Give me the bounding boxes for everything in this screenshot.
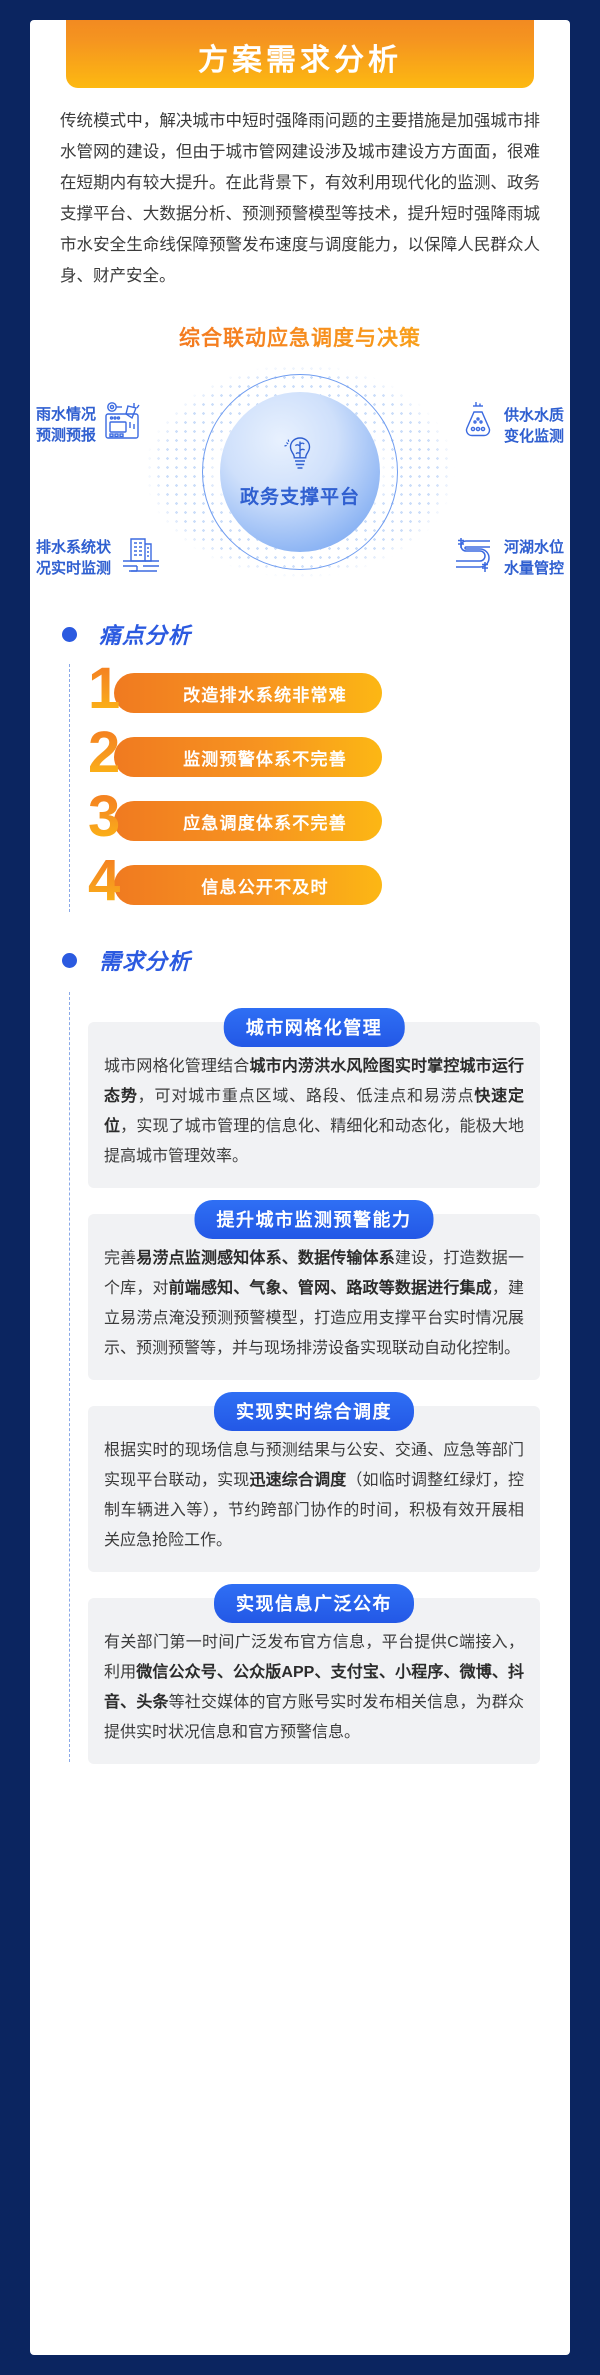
dashed-rail-decoration xyxy=(69,992,70,1762)
demand-card[interactable]: 提升城市监测预警能力 完善易涝点监测感知体系、数据传输体系建设，打造数据一个库，… xyxy=(88,1214,540,1380)
pain-point-number: 3 xyxy=(88,788,120,846)
pain-point-number: 2 xyxy=(88,724,120,782)
bullet-dot-icon xyxy=(62,627,77,642)
demand-card[interactable]: 实现实时综合调度 根据实时的现场信息与预测结果与公安、交通、应急等部门实现平台联… xyxy=(88,1406,540,1572)
node-label: 排水系统状 况实时监测 xyxy=(36,537,111,579)
pain-point-number: 1 xyxy=(88,660,120,718)
demand-card-body: 城市网格化管理结合城市内涝洪水风险图实时掌控城市运行态势，可对城市重点区域、路段… xyxy=(104,1052,524,1172)
diagram-node-drainage-monitor: 排水系统状 况实时监测 xyxy=(36,533,163,582)
title-banner: 方案需求分析 xyxy=(66,20,534,88)
river-level-icon xyxy=(450,533,496,582)
demand-card-title: 城市网格化管理 xyxy=(224,1008,405,1047)
demand-card-title: 实现实时综合调度 xyxy=(214,1392,414,1431)
bullet-dot-icon xyxy=(62,953,77,968)
diagram-title: 综合联动应急调度与决策 xyxy=(30,322,570,352)
node-label: 河湖水位 水量管控 xyxy=(504,537,564,579)
pain-point-label: 改造排水系统非常难 xyxy=(183,681,347,706)
diagram-node-river-level: 河湖水位 水量管控 xyxy=(450,533,564,582)
demand-card-body: 根据实时的现场信息与预测结果与公安、交通、应急等部门实现平台联动，实现迅速综合调… xyxy=(104,1436,524,1556)
dashed-rail-decoration xyxy=(69,664,70,912)
node-label: 雨水情况 预测预报 xyxy=(36,404,96,446)
pain-point-item[interactable]: 改造排水系统非常难 1 xyxy=(88,670,540,716)
poster-page: 方案需求分析 传统模式中，解决城市中短时强降雨问题的主要措施是加强城市排水管网的… xyxy=(30,20,570,2355)
core-label: 政务支撑平台 xyxy=(240,482,360,509)
pain-point-bar: 信息公开不及时 xyxy=(114,865,382,905)
pain-section-header: 痛点分析 xyxy=(62,618,570,650)
pain-point-item[interactable]: 监测预警体系不完善 2 xyxy=(88,734,540,780)
demand-card-body: 有关部门第一时间广泛发布官方信息，平台提供C端接入，利用微信公众号、公众版APP… xyxy=(104,1628,524,1748)
water-quality-flask-icon xyxy=(460,400,496,451)
demand-section-header: 需求分析 xyxy=(62,944,570,976)
demand-card-body: 完善易涝点监测感知体系、数据传输体系建设，打造数据一个库，对前端感知、气象、管网… xyxy=(104,1244,524,1364)
demand-card[interactable]: 城市网格化管理 城市网格化管理结合城市内涝洪水风险图实时掌控城市运行态势，可对城… xyxy=(88,1022,540,1188)
pain-point-label: 信息公开不及时 xyxy=(201,873,328,898)
pain-point-label: 应急调度体系不完善 xyxy=(183,809,347,834)
demand-card-list: 城市网格化管理 城市网格化管理结合城市内涝洪水风险图实时掌控城市运行态势，可对城… xyxy=(30,992,570,1784)
demand-card[interactable]: 实现信息广泛公布 有关部门第一时间广泛发布官方信息，平台提供C端接入，利用微信公… xyxy=(88,1598,540,1764)
pain-point-list: 改造排水系统非常难 1 监测预警体系不完善 2 应急调度体系不完善 3 信息公开… xyxy=(30,664,570,918)
pain-point-bar: 改造排水系统非常难 xyxy=(114,673,382,713)
brain-bulb-icon xyxy=(283,435,317,478)
title-banner-area: 方案需求分析 xyxy=(30,20,570,92)
pain-point-bar: 监测预警体系不完善 xyxy=(114,737,382,777)
diagram-node-water-quality: 供水水质 变化监测 xyxy=(460,400,564,451)
demand-section-title: 需求分析 xyxy=(99,944,191,976)
pain-point-number: 4 xyxy=(88,852,120,910)
drainage-building-icon xyxy=(119,533,163,582)
demand-card-title: 提升城市监测预警能力 xyxy=(195,1200,434,1239)
node-label: 供水水质 变化监测 xyxy=(504,405,564,447)
intro-paragraph: 传统模式中，解决城市中短时强降雨问题的主要措施是加强城市排水管网的建设，但由于城… xyxy=(60,106,540,292)
page-title: 方案需求分析 xyxy=(198,35,402,79)
platform-diagram: 政务支撑平台 雨水情况 预测预报 供水水质 变化监测 xyxy=(30,362,570,592)
diagram-node-rain-forecast: 雨水情况 预测预报 xyxy=(36,400,150,449)
pain-point-item[interactable]: 应急调度体系不完善 3 xyxy=(88,798,540,844)
pain-point-label: 监测预警体系不完善 xyxy=(183,745,347,770)
demand-card-title: 实现信息广泛公布 xyxy=(214,1584,414,1623)
pain-point-bar: 应急调度体系不完善 xyxy=(114,801,382,841)
pain-point-item[interactable]: 信息公开不及时 4 xyxy=(88,862,540,908)
diagram-core: 政务支撑平台 xyxy=(220,392,380,552)
pain-section-title: 痛点分析 xyxy=(99,618,191,650)
rain-monitor-icon xyxy=(104,400,150,449)
